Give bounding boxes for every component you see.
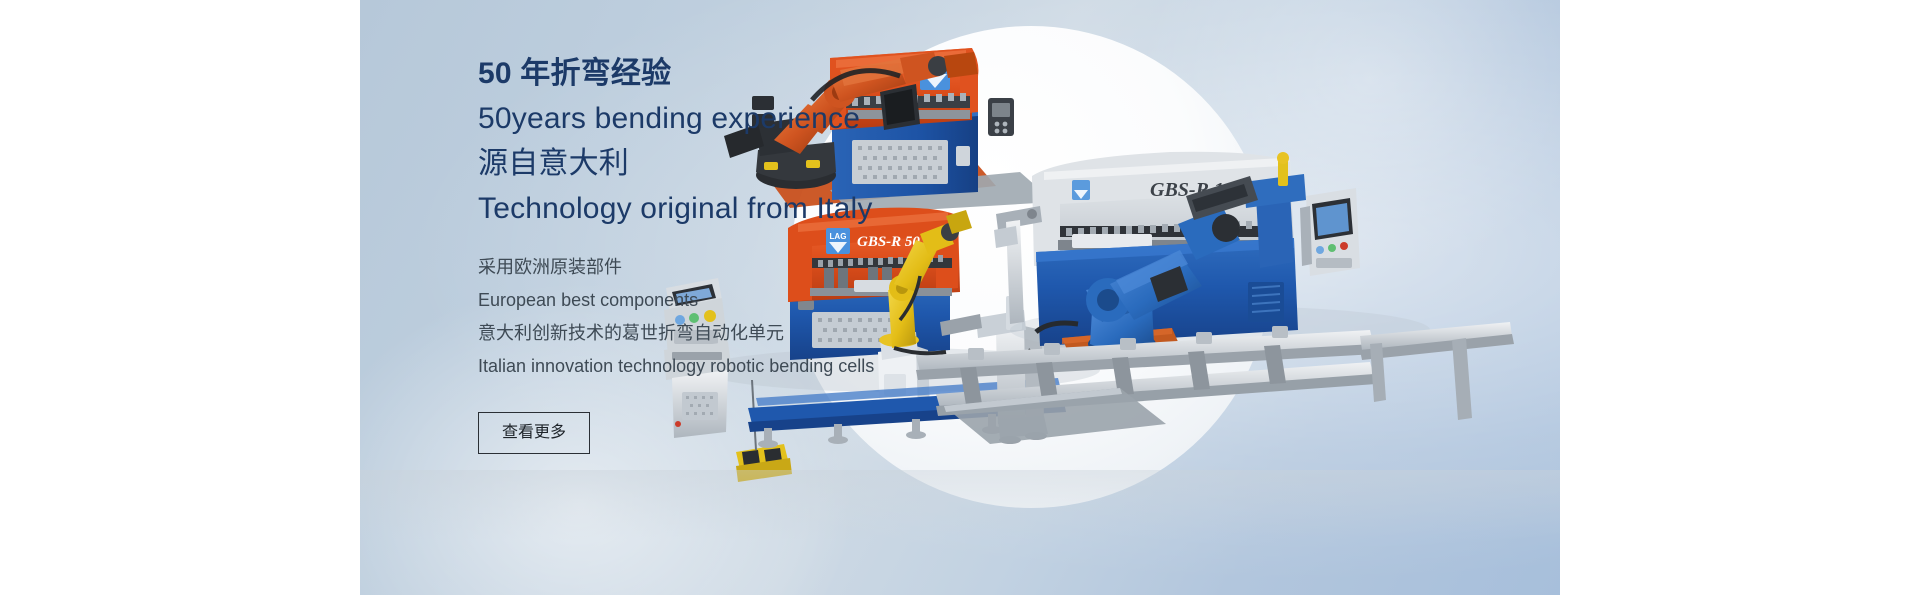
hero-headline: 50 年折弯经验 50years bending experience 源自意大… bbox=[478, 52, 948, 231]
headline-line-2: 50years bending experience bbox=[478, 96, 948, 141]
subtext-line-3: 意大利创新技术的葛世折弯自动化单元 bbox=[478, 317, 948, 350]
headline-line-3: 源自意大利 bbox=[478, 141, 948, 186]
hero-banner: LAG bbox=[360, 0, 1560, 595]
subtext-line-2: European best components bbox=[478, 284, 948, 317]
view-more-button[interactable]: 查看更多 bbox=[478, 412, 590, 454]
subtext-line-1: 采用欧洲原装部件 bbox=[478, 251, 948, 284]
page-root: LAG bbox=[0, 0, 1920, 595]
hero-subtext: 采用欧洲原装部件 European best components 意大利创新技… bbox=[478, 251, 948, 383]
subtext-line-4: Italian innovation technology robotic be… bbox=[478, 350, 948, 383]
hero-copy: 50 年折弯经验 50years bending experience 源自意大… bbox=[478, 52, 948, 454]
headline-line-1: 50 年折弯经验 bbox=[478, 52, 948, 96]
headline-line-4: Technology original from Italy bbox=[478, 186, 948, 231]
cnc-pendant-right bbox=[1300, 188, 1360, 276]
